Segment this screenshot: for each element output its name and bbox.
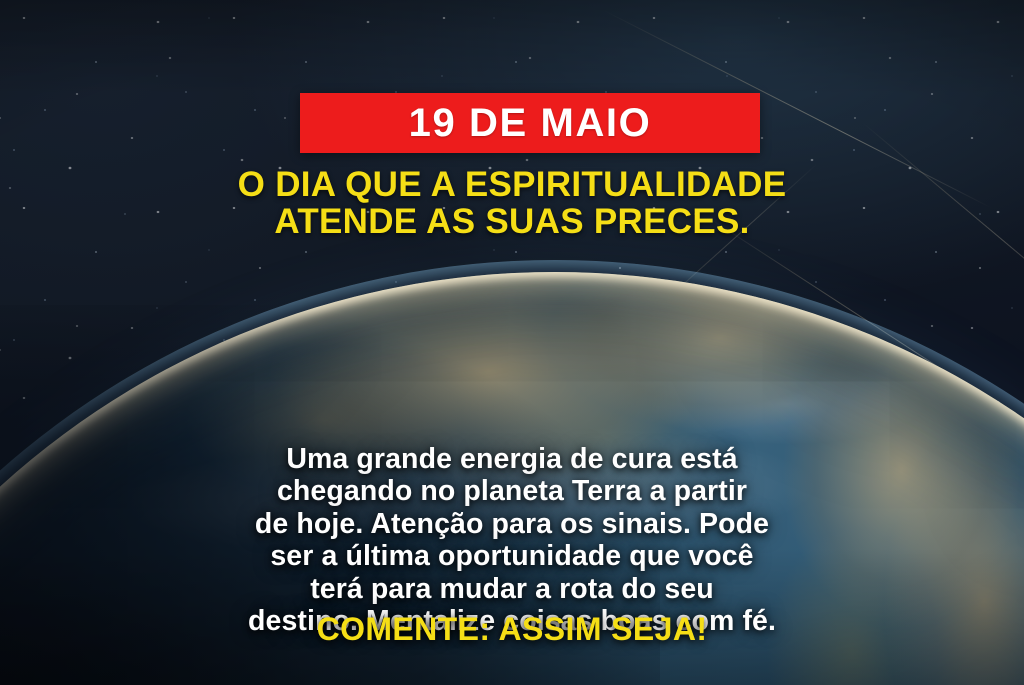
body-line-2: chegando no planeta Terra a partir [55, 475, 969, 507]
body-line-5: terá para mudar a rota do seu [55, 573, 969, 605]
headline: O DIA QUE A ESPIRITUALIDADE ATENDE AS SU… [0, 166, 1024, 240]
date-banner-label: 19 DE MAIO [409, 103, 652, 143]
poster-content: 19 DE MAIO O DIA QUE A ESPIRITUALIDADE A… [0, 0, 1024, 685]
headline-line-1: O DIA QUE A ESPIRITUALIDADE [40, 166, 984, 203]
poster-canvas: 19 DE MAIO O DIA QUE A ESPIRITUALIDADE A… [0, 0, 1024, 685]
body-line-1: Uma grande energia de cura está [55, 443, 969, 475]
call-to-action-label: COMENTE: ASSIM SEJA! [317, 611, 708, 647]
body-line-3: de hoje. Atenção para os sinais. Pode [55, 508, 969, 540]
body-paragraph: Uma grande energia de cura está chegando… [0, 443, 1024, 638]
call-to-action: COMENTE: ASSIM SEJA! [0, 613, 1024, 645]
headline-line-2: ATENDE AS SUAS PRECES. [40, 203, 984, 240]
body-line-4: ser a última oportunidade que você [55, 540, 969, 572]
date-banner: 19 DE MAIO [300, 93, 760, 153]
